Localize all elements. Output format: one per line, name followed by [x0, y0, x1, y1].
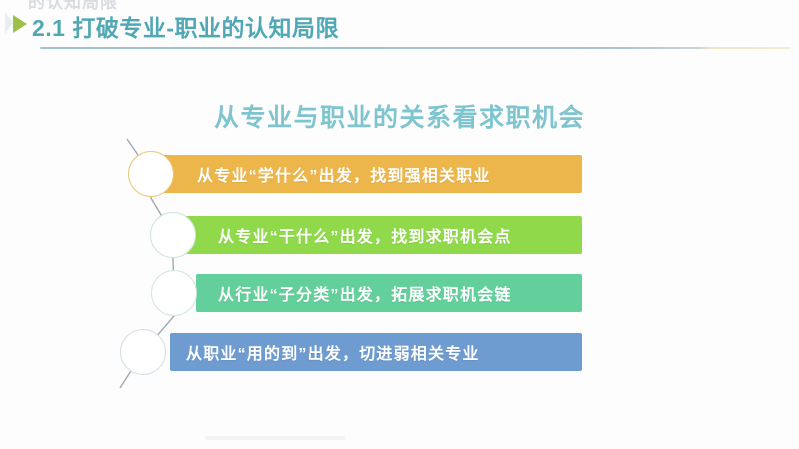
slide-canvas: 的认知局限 2.1 打破专业-职业的认知局限 从专业与职业的关系看求职机会 从专… — [0, 0, 799, 449]
triangle-arrow-ghost-icon — [5, 12, 13, 34]
diagram-bar-2-label: 从专业“干什么”出发，找到求职机会点 — [218, 223, 512, 247]
diagram-node-3[interactable] — [151, 270, 197, 316]
diagram-bar-3-label: 从行业“子分类”出发，拓展求职机会链 — [218, 281, 512, 305]
connector-line — [0, 0, 799, 449]
slide-header: 2.1 打破专业-职业的认知局限 — [0, 9, 799, 39]
main-heading: 从专业与职业的关系看求职机会 — [0, 98, 799, 134]
staircase-diagram: 从专业“学什么”出发，找到强相关职业 从专业“干什么”出发，找到求职机会点 从行… — [0, 0, 799, 449]
triangle-arrow-icon — [13, 15, 27, 33]
diagram-bar-4[interactable]: 从职业“用的到”出发，切进弱相关专业 — [170, 333, 582, 371]
diagram-node-1[interactable] — [128, 151, 174, 197]
diagram-bar-1[interactable]: 从专业“学什么”出发，找到强相关职业 — [155, 155, 582, 193]
diagram-bar-3[interactable]: 从行业“子分类”出发，拓展求职机会链 — [196, 274, 582, 312]
bottom-shadow-artifact — [205, 436, 345, 440]
diagram-node-4[interactable] — [120, 329, 166, 375]
diagram-bar-2[interactable]: 从专业“干什么”出发，找到求职机会点 — [178, 216, 582, 254]
page-title: 2.1 打破专业-职业的认知局限 — [32, 9, 339, 43]
diagram-bar-4-label: 从职业“用的到”出发，切进弱相关专业 — [186, 340, 480, 364]
diagram-node-2[interactable] — [150, 212, 196, 258]
header-divider — [40, 47, 791, 49]
diagram-bar-1-label: 从专业“学什么”出发，找到强相关职业 — [197, 162, 491, 186]
